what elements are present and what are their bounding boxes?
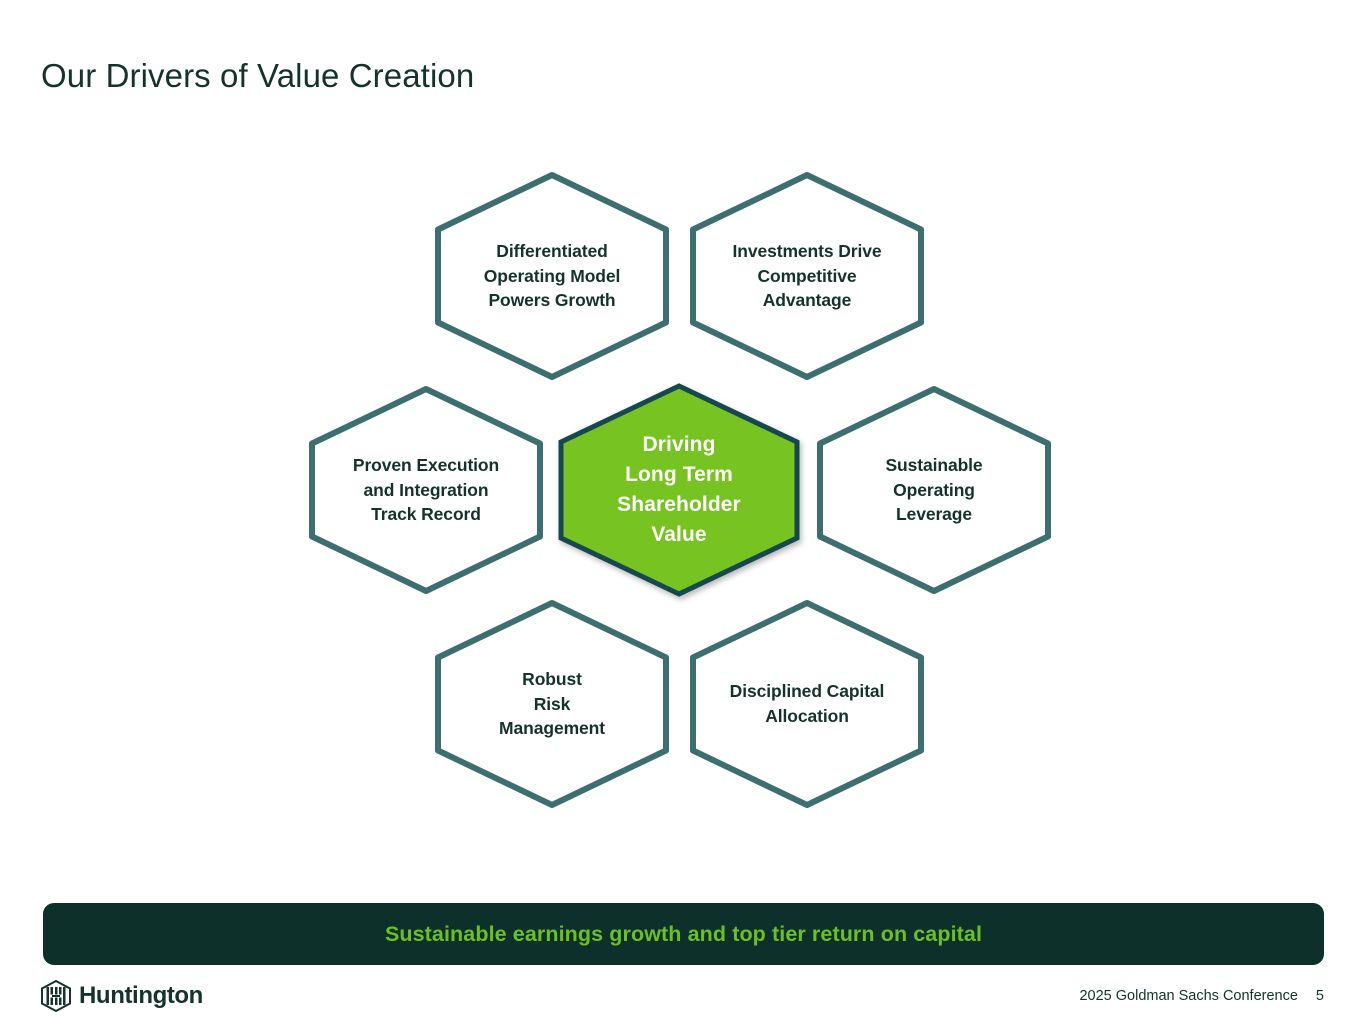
conference-name: 2025 Goldman Sachs Conference: [1079, 988, 1297, 1004]
brand-logo-text: Huntington: [79, 984, 203, 1008]
hexagon-shape: [302, 382, 550, 598]
hexagon-shape-filled: [555, 382, 803, 598]
hex-node-robust-risk-management[interactable]: Robust Risk Management: [428, 596, 676, 812]
hex-node-differentiated-operating-model[interactable]: Differentiated Operating Model Powers Gr…: [428, 168, 676, 384]
page-number: 5: [1316, 988, 1324, 1004]
hex-node-center-driving-long-term-shareholder-value[interactable]: Driving Long Term Shareholder Value: [555, 382, 803, 598]
key-message-text: Sustainable earnings growth and top tier…: [385, 922, 982, 947]
hexagon-shape: [683, 168, 931, 384]
key-message-banner: Sustainable earnings growth and top tier…: [43, 903, 1324, 965]
hex-node-proven-execution-and-integration[interactable]: Proven Execution and Integration Track R…: [302, 382, 550, 598]
hexagon-shape: [428, 168, 676, 384]
value-drivers-honeycomb: Differentiated Operating Model Powers Gr…: [290, 160, 1080, 880]
hex-node-investments-drive-competitive-advantage[interactable]: Investments Drive Competitive Advantage: [683, 168, 931, 384]
huntington-hex-logo-icon: [40, 980, 72, 1012]
brand-logo: Huntington: [40, 980, 203, 1012]
hexagon-shape: [683, 596, 931, 812]
hexagon-shape: [428, 596, 676, 812]
hexagon-shape: [810, 382, 1058, 598]
hex-node-disciplined-capital-allocation[interactable]: Disciplined Capital Allocation: [683, 596, 931, 812]
hex-node-sustainable-operating-leverage[interactable]: Sustainable Operating Leverage: [810, 382, 1058, 598]
footer-meta: 2025 Goldman Sachs Conference 5: [1079, 988, 1324, 1004]
page-title: Our Drivers of Value Creation: [41, 57, 474, 95]
